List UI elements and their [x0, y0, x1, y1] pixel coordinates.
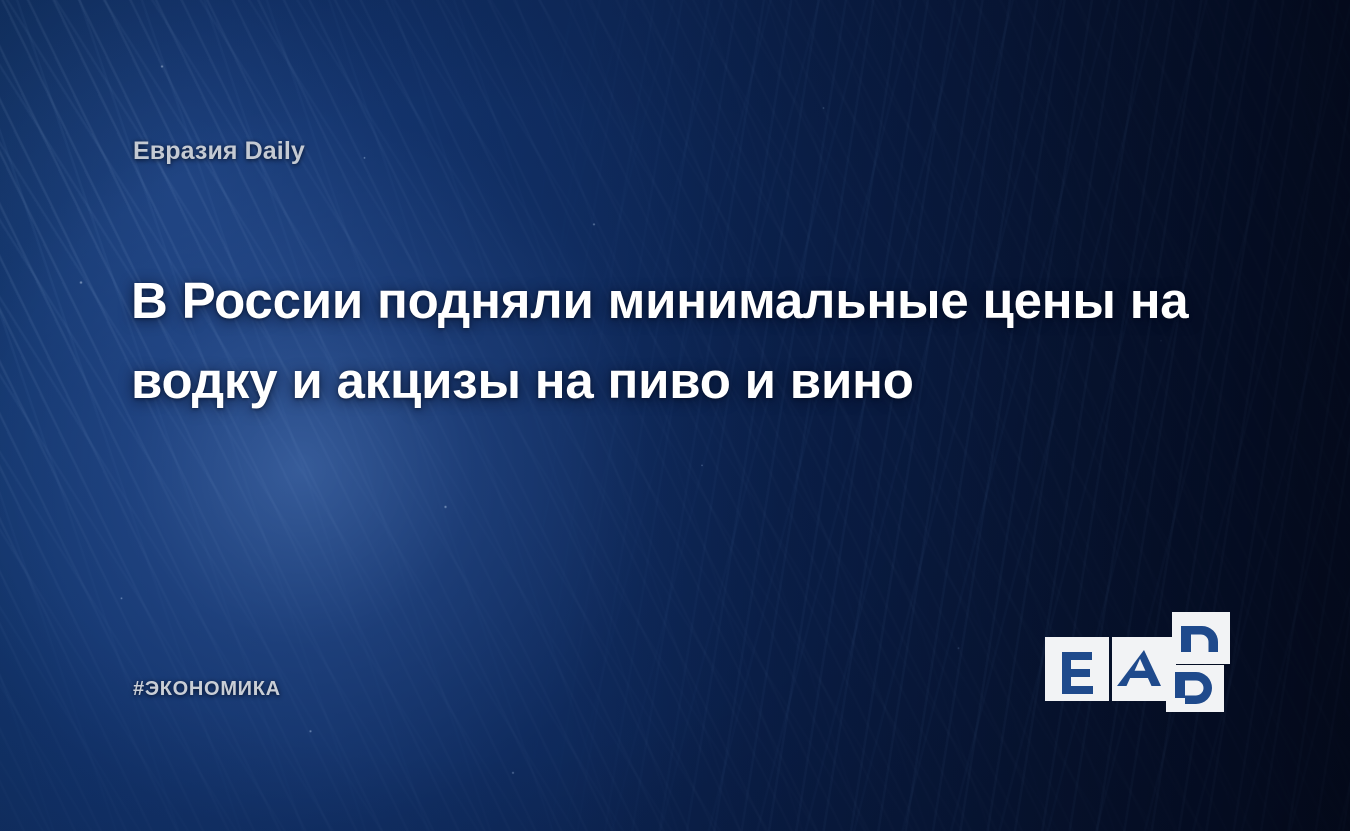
- headline: В России подняли минимальные цены на вод…: [131, 261, 1221, 421]
- card-content: Евразия Daily В России подняли минимальн…: [0, 0, 1350, 831]
- category-hashtag: #ЭКОНОМИКА: [133, 678, 281, 701]
- brand-name: Евразия Daily: [133, 137, 305, 166]
- news-card: Евразия Daily В России подняли минимальн…: [0, 0, 1350, 831]
- ead-logo-icon: [1044, 612, 1234, 712]
- ead-logo: [1044, 612, 1234, 712]
